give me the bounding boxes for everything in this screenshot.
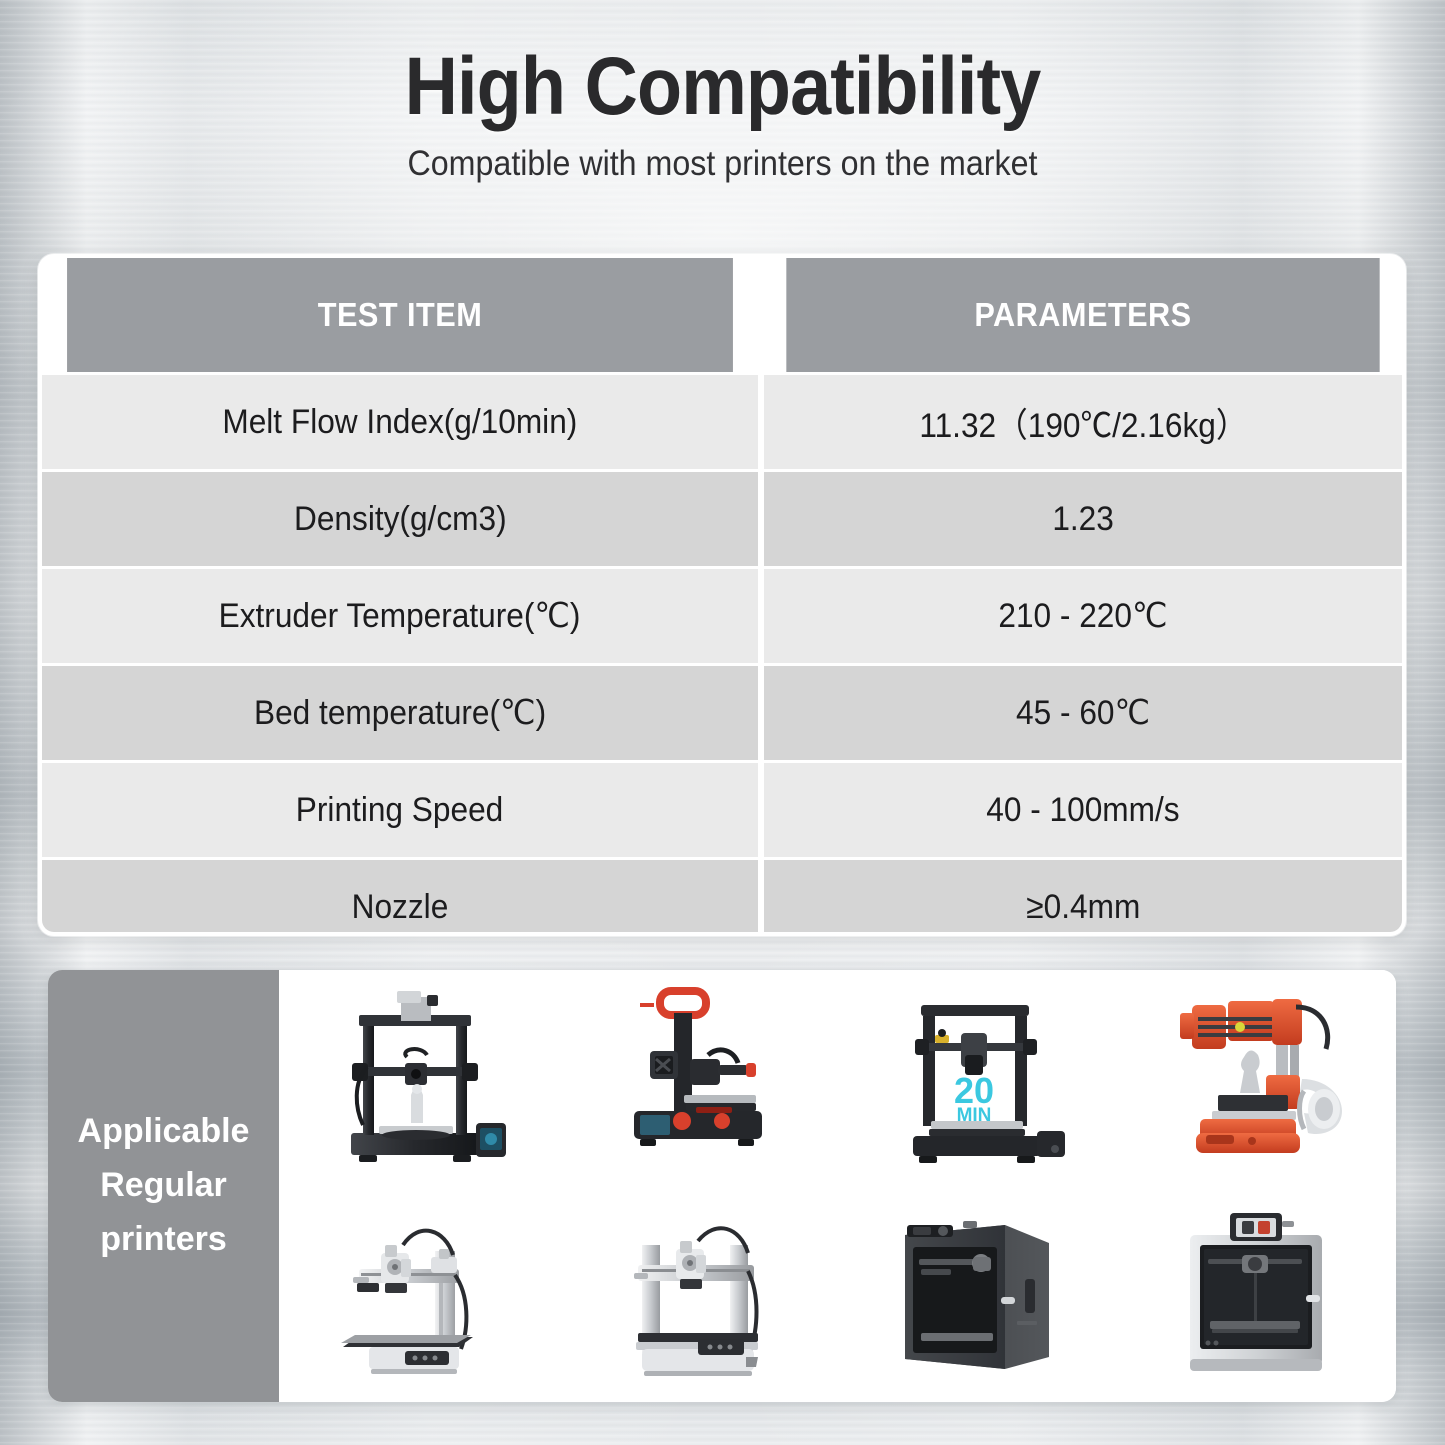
cell-parameter: 210 - 220℃ — [764, 569, 1402, 663]
cell-text: Extruder Temperature(℃) — [219, 596, 581, 636]
printer-image-black-cartesian — [279, 970, 558, 1186]
cell-test-item: Density(g/cm3) — [42, 472, 758, 566]
cell-test-item: Nozzle — [42, 860, 758, 936]
column-divider — [758, 258, 764, 372]
table-row: Bed temperature(℃) 45 - 60℃ — [42, 666, 1402, 760]
cell-text: 11.32（190℃/2.16kg） — [919, 398, 1247, 447]
cell-parameter: 40 - 100mm/s — [764, 763, 1402, 857]
table-row: Printing Speed 40 - 100mm/s — [42, 763, 1402, 857]
cell-text: Bed temperature(℃) — [254, 693, 546, 733]
applicable-label-line-3: printers — [100, 1213, 227, 1267]
page-subtitle: Compatible with most printers on the mar… — [58, 145, 1387, 184]
cell-parameter: 45 - 60℃ — [764, 666, 1402, 760]
table-row: Nozzle ≥0.4mm — [42, 860, 1402, 936]
cell-parameter: 1.23 — [764, 472, 1402, 566]
printer-image-black-red-compact — [558, 970, 837, 1186]
cell-test-item: Melt Flow Index(g/10min) — [42, 375, 758, 469]
cell-text: ≥0.4mm — [1026, 888, 1140, 927]
printer-image-orange-mini — [1117, 970, 1396, 1186]
printer-image-black-20min: 20 MIN — [838, 970, 1117, 1186]
header-block: High Compatibility Compatible with most … — [0, 0, 1445, 183]
table-row: Density(g/cm3) 1.23 — [42, 472, 1402, 566]
printer-image-silver-enclosed — [1117, 1186, 1396, 1402]
cell-text: Density(g/cm3) — [294, 500, 507, 539]
cell-test-item: Extruder Temperature(℃) — [42, 569, 758, 663]
table-row: Extruder Temperature(℃) 210 - 220℃ — [42, 569, 1402, 663]
specification-table: TEST ITEM PARAMETERS Melt Flow Index(g/1… — [38, 254, 1406, 936]
applicable-printers-panel: Applicable Regular printers — [48, 970, 1396, 1402]
cell-text: 40 - 100mm/s — [986, 791, 1179, 830]
printer-image-black-enclosed — [838, 1186, 1117, 1402]
cell-text: Nozzle — [352, 888, 449, 927]
table-row: Melt Flow Index(g/10min) 11.32（190℃/2.16… — [42, 375, 1402, 469]
column-header-test-item: TEST ITEM — [67, 258, 733, 372]
page-title: High Compatibility — [72, 44, 1373, 131]
cell-parameter: 11.32（190℃/2.16kg） — [764, 375, 1402, 469]
cell-text: 210 - 220℃ — [998, 596, 1167, 636]
applicable-printers-label: Applicable Regular printers — [48, 970, 279, 1402]
cell-text: 45 - 60℃ — [1016, 693, 1150, 733]
cell-text: Melt Flow Index(g/10min) — [223, 403, 578, 442]
cell-test-item: Bed temperature(℃) — [42, 666, 758, 760]
table-header-row: TEST ITEM PARAMETERS — [42, 258, 1402, 372]
cell-text: 1.23 — [1052, 500, 1114, 539]
cell-parameter: ≥0.4mm — [764, 860, 1402, 936]
column-header-parameters: PARAMETERS — [786, 258, 1379, 372]
printer-image-silver-open-frame — [558, 1186, 837, 1402]
printer-image-silver-cantilever — [279, 1186, 558, 1402]
printer-image-grid: 20 MIN — [279, 970, 1396, 1402]
applicable-label-line-2: Regular — [100, 1159, 227, 1213]
cell-test-item: Printing Speed — [42, 763, 758, 857]
applicable-label-line-1: Applicable — [78, 1105, 250, 1159]
cell-text: Printing Speed — [296, 791, 503, 830]
